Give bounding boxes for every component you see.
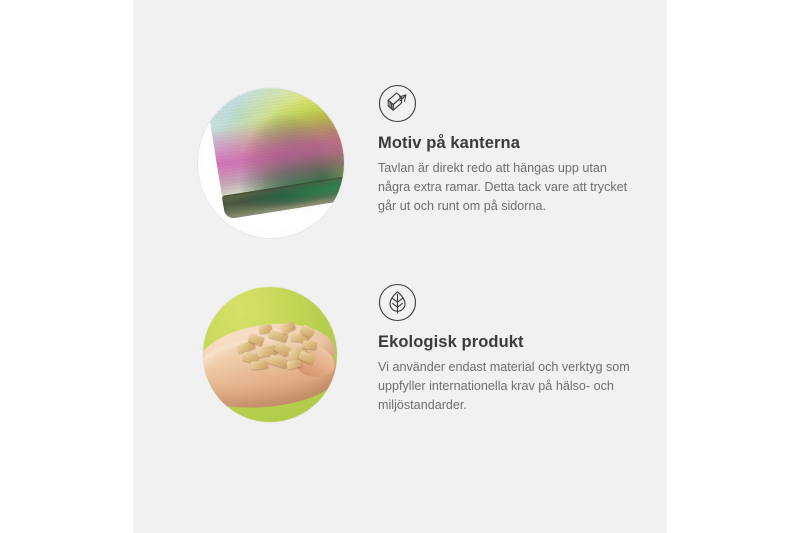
feature-row-1: Motiv på kanterna Tavlan är direkt redo … [133,84,667,244]
feature-body-2: Ekologisk produkt Vi använder endast mat… [378,283,658,415]
wrapped-canvas-edge-icon [378,84,417,123]
canvas-illustration [198,88,344,238]
leaf-icon [378,283,417,322]
canvas-corner-photo [198,88,344,238]
feature-title-2: Ekologisk produkt [378,333,658,353]
hands-wood-chips-photo [203,287,337,422]
feature-text-2: Vi använder endast material och verktyg … [378,358,640,415]
content-panel: Motiv på kanterna Tavlan är direkt redo … [133,0,667,533]
feature-row-2: Ekologisk produkt Vi använder endast mat… [133,283,667,443]
canvas-block [205,88,344,224]
wood-chip-pile [235,323,321,375]
feature-text-1: Tavlan är direkt redo att hängas upp uta… [378,159,640,216]
feature-title-1: Motiv på kanterna [378,134,658,154]
hands-illustration [203,287,337,422]
product-feature-graphic: Motiv på kanterna Tavlan är direkt redo … [0,0,800,533]
feature-body-1: Motiv på kanterna Tavlan är direkt redo … [378,84,658,216]
